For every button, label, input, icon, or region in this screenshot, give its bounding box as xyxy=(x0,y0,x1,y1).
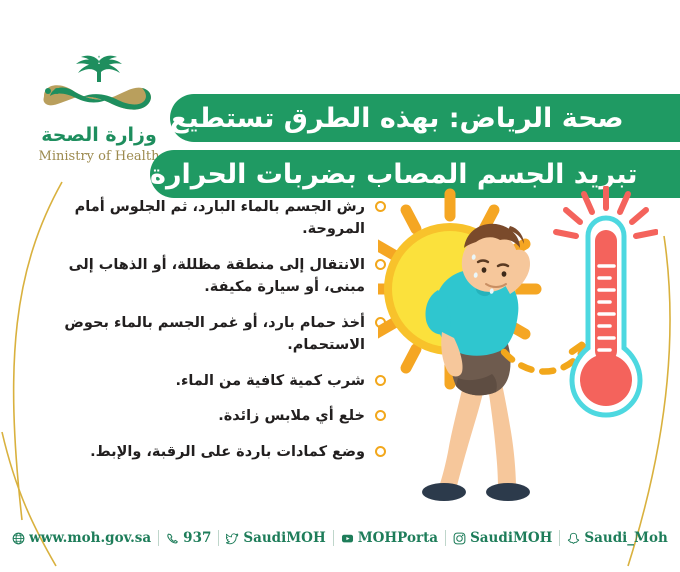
twitter-icon xyxy=(226,532,239,545)
tip-text: شرب كمية كافية من الماء. xyxy=(46,370,365,392)
heat-exhaustion-illustration xyxy=(378,186,658,506)
list-item: خلع أي ملابس زائدة. xyxy=(46,405,386,427)
footer-item-phone[interactable]: 937 xyxy=(159,530,218,546)
globe-icon xyxy=(12,532,25,545)
ministry-of-health-logo: وزارة الصحة Ministry of Health xyxy=(24,54,174,169)
footer-label: www.moh.gov.sa xyxy=(29,530,151,546)
tip-text: خلع أي ملابس زائدة. xyxy=(46,405,365,427)
poster-title-line-1: صحة الرياض: بهذه الطرق تستطيع xyxy=(170,94,680,142)
footer-item-twitter[interactable]: SaudiMOH xyxy=(219,530,332,546)
footer-item-youtube[interactable]: MOHPorta xyxy=(334,530,445,546)
footer-label: SaudiMOH xyxy=(470,530,552,546)
footer-label: Saudi_Moh xyxy=(584,530,667,546)
snapchat-icon xyxy=(567,532,580,545)
logo-emblem-icon xyxy=(24,54,174,124)
logo-arabic-text: وزارة الصحة xyxy=(24,124,174,146)
tip-text: أخذ حمام بارد، أو غمر الجسم بالماء بحوض … xyxy=(46,312,365,357)
list-item: شرب كمية كافية من الماء. xyxy=(46,370,386,392)
tip-text: رش الجسم بالماء البارد، ثم الجلوس أمام ا… xyxy=(46,196,365,241)
tips-list: رش الجسم بالماء البارد، ثم الجلوس أمام ا… xyxy=(46,196,386,476)
instagram-icon xyxy=(453,532,466,545)
footer-item-snapchat[interactable]: Saudi_Moh xyxy=(560,530,674,546)
tip-text: الانتقال إلى منطقة مظللة، أو الذهاب إلى … xyxy=(46,254,365,299)
tip-text: وضع كمادات باردة على الرقبة، والإبط. xyxy=(46,441,365,463)
footer-item-website[interactable]: www.moh.gov.sa xyxy=(5,530,158,546)
footer-item-instagram[interactable]: SaudiMOH xyxy=(446,530,559,546)
footer-contact-bar: www.moh.gov.sa 937 SaudiMOH MOHPorta xyxy=(0,523,680,553)
list-item: وضع كمادات باردة على الرقبة، والإبط. xyxy=(46,441,386,463)
footer-label: SaudiMOH xyxy=(243,530,325,546)
list-item: رش الجسم بالماء البارد، ثم الجلوس أمام ا… xyxy=(46,196,386,241)
youtube-icon xyxy=(341,532,354,545)
thermometer-icon xyxy=(556,188,656,415)
poster-header: وزارة الصحة Ministry of Health صحة الريا… xyxy=(0,46,680,174)
footer-label: MOHPorta xyxy=(358,530,438,546)
infographic-poster: وزارة الصحة Ministry of Health صحة الريا… xyxy=(0,0,680,572)
list-item: الانتقال إلى منطقة مظللة، أو الذهاب إلى … xyxy=(46,254,386,299)
footer-label: 937 xyxy=(183,530,211,546)
list-item: أخذ حمام بارد، أو غمر الجسم بالماء بحوض … xyxy=(46,312,386,357)
phone-icon xyxy=(166,532,179,545)
